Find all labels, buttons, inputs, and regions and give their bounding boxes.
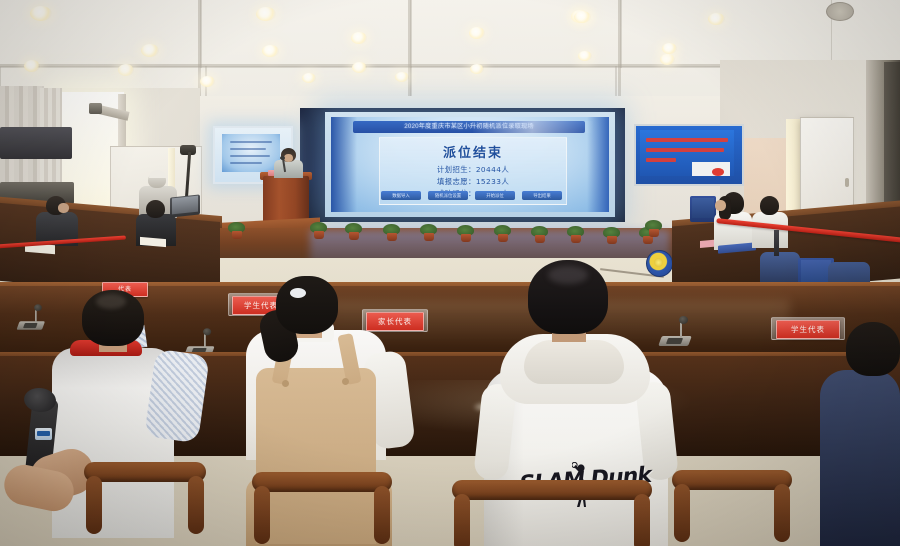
student-b-hair-tie (290, 288, 306, 298)
laptop-screen (172, 196, 198, 215)
downlight (351, 32, 367, 44)
stage-plant (567, 226, 584, 242)
downlight (352, 62, 367, 73)
downlight (118, 64, 134, 76)
student-b-head (276, 276, 338, 334)
slide-stat-line: 填报志愿：15233人 (380, 176, 566, 187)
downlight (574, 11, 591, 23)
stage-plant (531, 226, 548, 242)
stage-plant (603, 227, 620, 243)
downlight (262, 45, 279, 57)
student-a-hair-highlight (96, 294, 126, 309)
media-person-head (146, 200, 165, 218)
cable-reel-hub (654, 258, 663, 267)
ceiling-vent-icon (826, 2, 854, 21)
stage-plant (645, 220, 662, 236)
staff-face (715, 200, 726, 211)
projector-icon (89, 103, 102, 114)
student-d-body (820, 370, 900, 546)
slide-title: 派位结束 (380, 142, 566, 161)
downlight (256, 7, 276, 21)
stage-plant (494, 225, 511, 241)
media-person-face (58, 203, 69, 213)
slide-button[interactable]: 开始派位 (475, 191, 515, 200)
wooden-chair[interactable] (252, 472, 392, 546)
microphone-logo-mark (37, 431, 50, 436)
monitor-white-block (692, 162, 730, 176)
wooden-chair[interactable] (84, 462, 206, 546)
downlight (395, 72, 409, 82)
podium-microphone-head (280, 156, 285, 160)
downlight (469, 27, 485, 39)
downlight (470, 64, 484, 74)
speaker-body (274, 160, 303, 178)
downlight (24, 60, 40, 72)
downlight (578, 51, 592, 61)
slide-button[interactable]: 导出结果 (522, 191, 562, 200)
left-monitor-screen (222, 134, 280, 172)
right-wall-monitor (634, 124, 744, 186)
wall-display-panel (0, 127, 72, 159)
slide-button[interactable]: 数据导入 (381, 191, 421, 200)
conference-hall-photo: 2020年度重庆市某区小升初随机派位录取现场 派位结束 计划招生：20444人 … (0, 0, 900, 546)
speaker-face (284, 154, 293, 162)
door-handle-icon[interactable] (845, 178, 849, 187)
downlight (200, 76, 215, 87)
monitor-red-dot (712, 168, 724, 176)
nameplate-parent-rep: 家长代表 (366, 312, 424, 331)
wooden-chair[interactable] (452, 480, 652, 546)
right-monitor-screen (640, 130, 734, 176)
stage-plant (383, 224, 400, 240)
camera-operator-cap-brim (149, 170, 166, 178)
student-c-hair-highlight (548, 266, 588, 284)
projection-screen: 2020年度重庆市某区小升初随机派位录取现场 派位结束 计划招生：20444人 … (325, 112, 615, 217)
stage-plant (228, 222, 245, 238)
wooden-chair[interactable] (672, 470, 792, 546)
slide-banner-text: 2020年度重庆市某区小升初随机派位录取现场 (357, 121, 581, 133)
stage-plant (310, 222, 327, 238)
student-b-button (342, 378, 349, 385)
student-b-button (282, 380, 289, 387)
rope-barrier-post (774, 230, 779, 256)
staff-monitor-screen (692, 198, 714, 218)
nameplate-student-rep: 学生代表 (776, 320, 840, 339)
staff-head (760, 196, 779, 215)
student-c-hood-inner (524, 340, 624, 384)
office-chair[interactable] (760, 252, 800, 282)
slide-stat-line: 计划招生：20444人 (380, 164, 566, 175)
projection-screen-image: 2020年度重庆市某区小升初随机派位录取现场 派位结束 计划招生：20444人 … (331, 117, 609, 212)
downlight (141, 44, 159, 57)
stage-plant (457, 225, 474, 241)
downlight (708, 13, 725, 25)
slide-button[interactable]: 随机派位设置 (428, 191, 468, 200)
downlight (660, 54, 675, 65)
stage-plant (345, 223, 362, 239)
downlight (662, 43, 677, 54)
downlight (302, 73, 316, 83)
stage-plant (420, 224, 437, 240)
student-d-head (846, 322, 900, 376)
downlight (30, 6, 52, 21)
